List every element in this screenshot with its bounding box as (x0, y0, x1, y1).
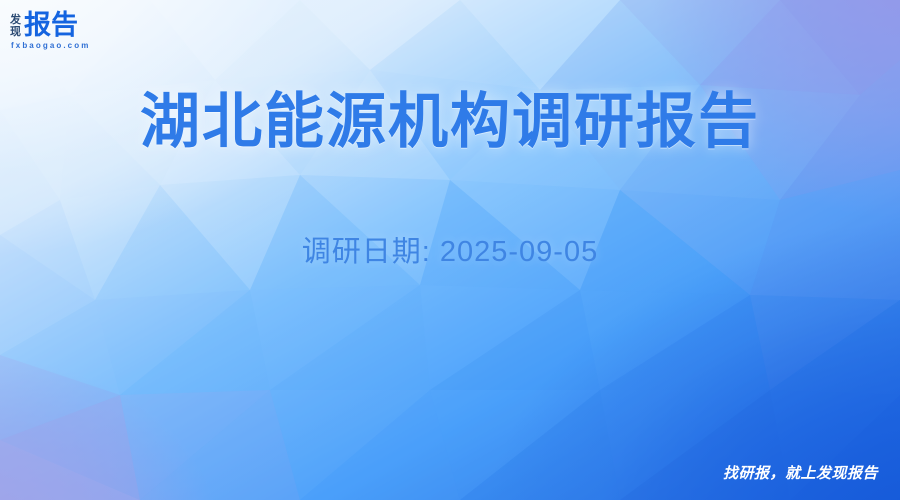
logo-url: fxbaogao.com (11, 41, 115, 51)
logo-mark-char-top: 发 (10, 14, 21, 26)
page-title: 湖北能源机构调研报告 (0, 84, 900, 160)
survey-date-subtitle: 调研日期: 2025-09-05 (0, 230, 900, 274)
site-logo[interactable]: 发 现 报告 fxbaogao.com (10, 8, 115, 54)
logo-mark-char-bottom: 现 (10, 26, 21, 38)
logo-wordmark-row: 发 现 报告 (10, 8, 115, 40)
logo-wordmark: 报告 (24, 11, 78, 40)
report-cover: 发 现 报告 fxbaogao.com 湖北能源机构调研报告 调研日期: 202… (0, 0, 900, 500)
footer-tagline: 找研报，就上发现报告 (723, 464, 878, 484)
logo-mark-icon: 发 现 (10, 14, 21, 40)
title-block: 湖北能源机构调研报告 (0, 84, 900, 160)
